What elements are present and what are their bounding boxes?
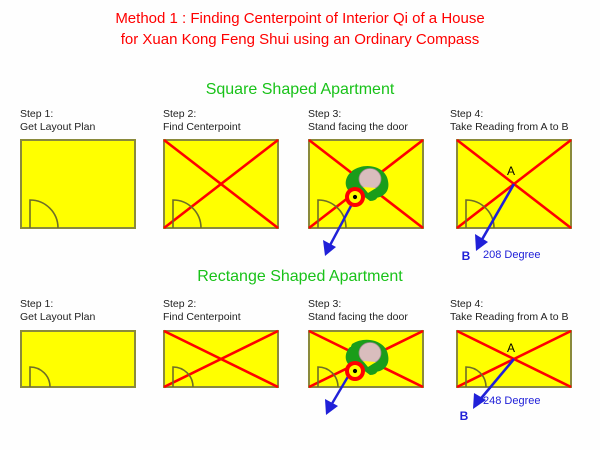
- floorplan-square-step3: [308, 139, 424, 264]
- person-head: [359, 169, 381, 190]
- step-caption: Stand facing the door: [308, 121, 408, 134]
- point-a-label: A: [507, 341, 515, 355]
- step-caption: Find Centerpoint: [163, 311, 241, 324]
- compass-needle-pivot: [353, 369, 357, 373]
- step-caption: Get Layout Plan: [20, 121, 95, 134]
- floorplan-square-step4: A B: [456, 139, 572, 264]
- bearing-arrow-head: [325, 399, 338, 415]
- step-label-s2-4: Step 4: Take Reading from A to B: [450, 298, 568, 323]
- step-caption: Find Centerpoint: [163, 121, 241, 134]
- point-b-label: B: [462, 249, 471, 263]
- step-number: Step 1:: [20, 298, 95, 311]
- floorplan-rect-step4: A B: [456, 330, 572, 425]
- floorplan-outline: [21, 331, 135, 387]
- step-number: Step 1:: [20, 108, 95, 121]
- step-caption: Take Reading from A to B: [450, 311, 568, 324]
- floorplan-rect-step3: [308, 330, 424, 425]
- step-number: Step 2:: [163, 108, 241, 121]
- section-heading-square: Square Shaped Apartment: [0, 81, 600, 99]
- step-number: Step 3:: [308, 108, 408, 121]
- point-b-label: B: [460, 409, 469, 423]
- bearing-arrow-head: [323, 240, 336, 256]
- compass-device: [345, 361, 365, 381]
- step-label-s2-2: Step 2: Find Centerpoint: [163, 298, 241, 323]
- step-label-s2-1: Step 1: Get Layout Plan: [20, 298, 95, 323]
- floorplan-outline: [21, 140, 135, 228]
- compass-device: [345, 187, 365, 207]
- step-number: Step 4:: [450, 298, 568, 311]
- title-line-2: for Xuan Kong Feng Shui using an Ordinar…: [0, 29, 600, 50]
- diagram-canvas: Method 1 : Finding Centerpoint of Interi…: [0, 0, 600, 450]
- step-number: Step 4:: [450, 108, 568, 121]
- floorplan-square-step1: [20, 139, 136, 229]
- reading-value-square: 208 Degree: [483, 249, 541, 261]
- floorplan-rect-step1: [20, 330, 136, 388]
- step-caption: Stand facing the door: [308, 311, 408, 324]
- page-title: Method 1 : Finding Centerpoint of Interi…: [0, 8, 600, 50]
- compass-needle-pivot: [353, 195, 357, 199]
- step-number: Step 2:: [163, 298, 241, 311]
- step-label-s2-3: Step 3: Stand facing the door: [308, 298, 408, 323]
- reading-value-rectangle: 248 Degree: [483, 395, 541, 407]
- step-caption: Get Layout Plan: [20, 311, 95, 324]
- title-line-1: Method 1 : Finding Centerpoint of Interi…: [0, 8, 600, 29]
- section-heading-rectangle: Rectange Shaped Apartment: [0, 268, 600, 286]
- step-label-s1-4: Step 4: Take Reading from A to B: [450, 108, 568, 133]
- step-label-s1-2: Step 2: Find Centerpoint: [163, 108, 241, 133]
- step-label-s1-1: Step 1: Get Layout Plan: [20, 108, 95, 133]
- floorplan-square-step2: [163, 139, 279, 229]
- floorplan-rect-step2: [163, 330, 279, 388]
- step-number: Step 3:: [308, 298, 408, 311]
- person-head: [359, 343, 381, 364]
- point-a-label: A: [507, 164, 515, 178]
- step-caption: Take Reading from A to B: [450, 121, 568, 134]
- step-label-s1-3: Step 3: Stand facing the door: [308, 108, 408, 133]
